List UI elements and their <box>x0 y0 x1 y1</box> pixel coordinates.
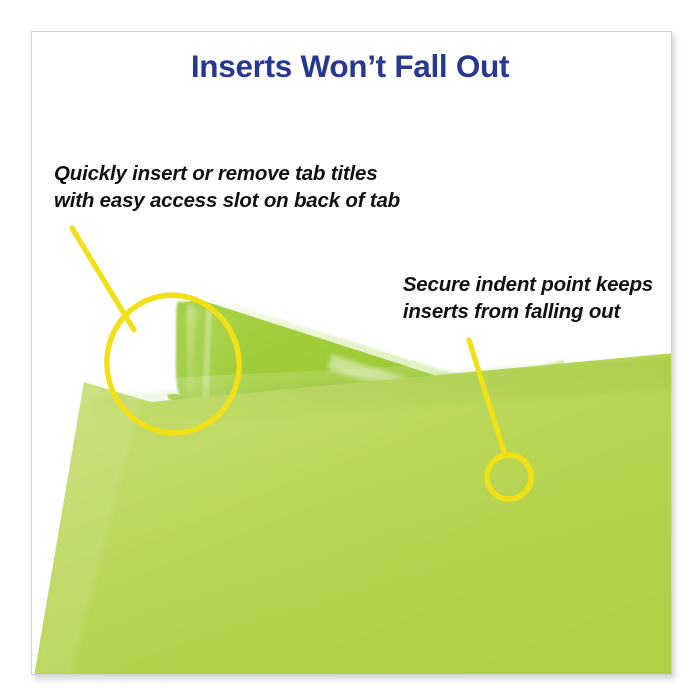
page-title: Inserts Won’t Fall Out <box>0 48 700 85</box>
product-photo <box>31 31 672 675</box>
divider-body <box>34 353 672 675</box>
callout-label-indent-point: Secure indent point keeps inserts from f… <box>403 271 653 325</box>
callout-label-access-slot: Quickly insert or remove tab titles with… <box>54 160 400 214</box>
product-feature-card: Inserts Won’t Fall Out Quickly insert or… <box>0 0 700 700</box>
photo-frame <box>31 31 672 675</box>
